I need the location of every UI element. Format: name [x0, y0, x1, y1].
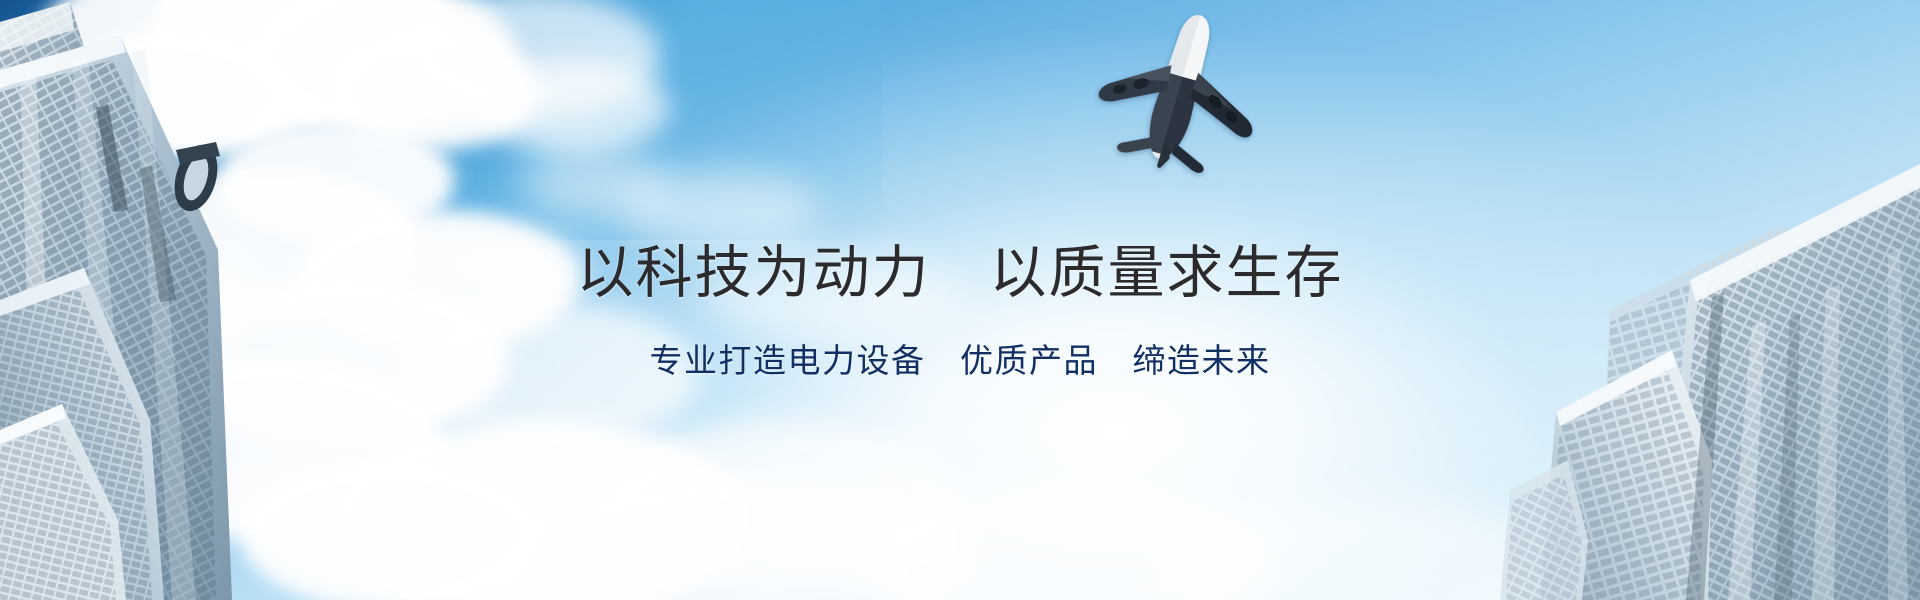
cloud-icon: [480, 60, 670, 155]
skyscraper-left-icon: [0, 0, 290, 600]
cloud-icon: [700, 250, 960, 340]
cloud-icon: [520, 150, 670, 220]
cloud-icon: [420, 230, 590, 300]
skyscraper-right-icon: [1360, 130, 1920, 600]
hero-banner: 以科技为动力 以质量求生存 专业打造电力设备 优质产品 缔造未来: [0, 0, 1920, 600]
